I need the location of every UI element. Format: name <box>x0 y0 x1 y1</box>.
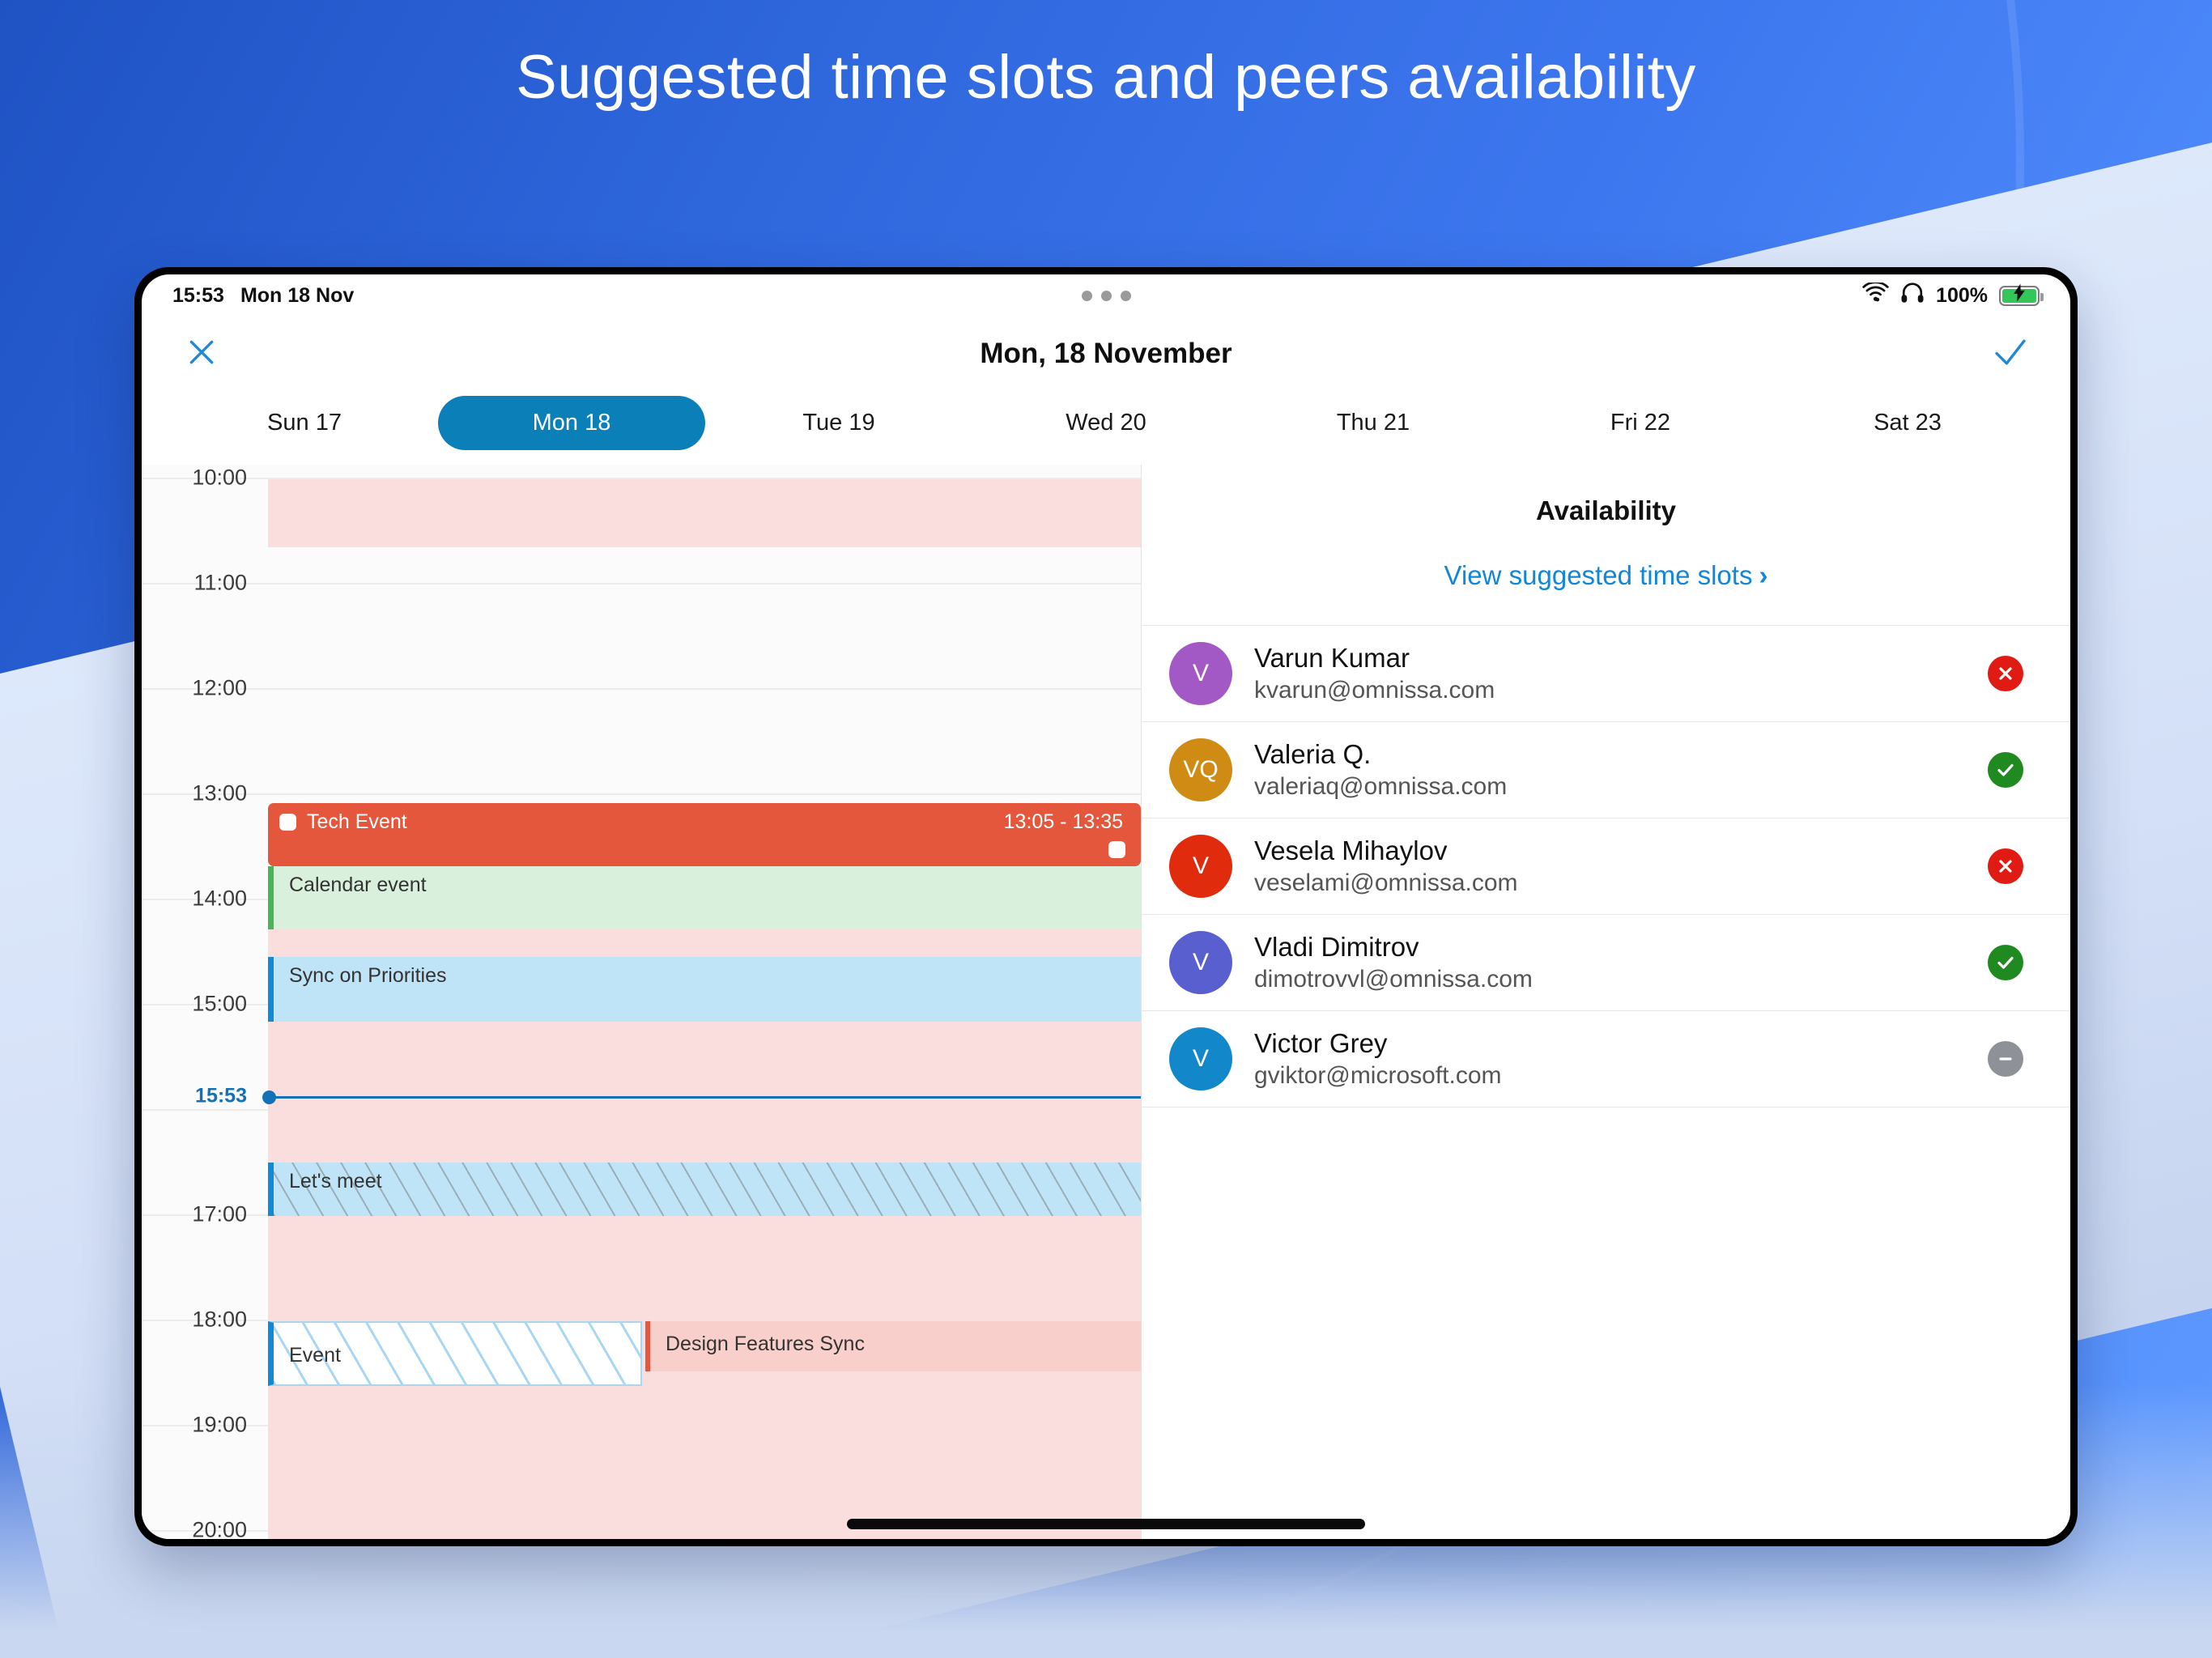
attendee-info: Valeria Q. valeriaq@omnissa.com <box>1254 739 1507 801</box>
event-calendar-event[interactable]: Calendar event <box>268 866 1141 929</box>
hour-label-11: 11:00 <box>142 571 257 596</box>
hour-label-19: 19:00 <box>142 1413 257 1438</box>
attendee-list: V Varun Kumar kvarun@omnissa.com VQ <box>1142 625 2070 1107</box>
attendee-info: Victor Grey gviktor@microsoft.com <box>1254 1028 1502 1090</box>
hour-label-10: 10:00 <box>142 466 257 491</box>
hour-label-12: 12:00 <box>142 676 257 701</box>
event-title: Tech Event <box>268 803 407 834</box>
event-tech-event[interactable]: Tech Event 13:05 - 13:35 <box>268 803 1141 866</box>
event-title-text: Event <box>274 1323 341 1367</box>
calendar-event-area: Tech Event 13:05 - 13:35 Calendar event … <box>268 465 1141 1539</box>
avatar-initials: V <box>1193 949 1209 976</box>
hour-label-14: 14:00 <box>142 886 257 912</box>
attendee-email: dimotrovvl@omnissa.com <box>1254 966 1533 993</box>
day-tab-mon-18[interactable]: Mon 18 <box>438 396 705 450</box>
current-time-line <box>268 1096 1141 1099</box>
minus-circle-icon <box>1988 1041 2023 1077</box>
avatar-initials: V <box>1193 852 1209 880</box>
attendee-name: Varun Kumar <box>1254 643 1495 674</box>
attendee-name: Valeria Q. <box>1254 739 1507 770</box>
avatar: V <box>1169 1027 1232 1090</box>
avatar-initials: V <box>1193 660 1209 687</box>
event-design-features-sync[interactable]: Design Features Sync <box>645 1321 1141 1371</box>
hour-label-20: 20:00 <box>142 1518 257 1540</box>
status-bar-right: 100% <box>1862 282 2040 309</box>
headphones-icon <box>1900 282 1925 309</box>
attendee-email: gviktor@microsoft.com <box>1254 1062 1502 1090</box>
event-title-text: Design Features Sync <box>650 1321 865 1356</box>
battery-charging-icon <box>1999 286 2040 306</box>
hour-label-18: 18:00 <box>142 1307 257 1333</box>
page-title: Suggested time slots and peers availabil… <box>0 42 2212 113</box>
event-status-dot-icon <box>279 814 296 831</box>
dot-3 <box>1121 291 1131 301</box>
attendee-email: veselami@omnissa.com <box>1254 869 1518 897</box>
day-tab-sat-23[interactable]: Sat 23 <box>1774 396 2041 450</box>
hour-label-17: 17:00 <box>142 1202 257 1227</box>
day-tab-fri-22[interactable]: Fri 22 <box>1507 396 1774 450</box>
tablet-device-frame: 15:53 Mon 18 Nov 100% <box>134 267 2078 1546</box>
dot-2 <box>1101 291 1112 301</box>
attendee-info: Vesela Mihaylov veselami@omnissa.com <box>1254 835 1518 897</box>
event-event[interactable]: Event <box>268 1321 642 1386</box>
attendee-name: Vesela Mihaylov <box>1254 835 1518 866</box>
event-title-text: Sync on Priorities <box>274 957 447 988</box>
done-button[interactable] <box>1988 331 2033 376</box>
avatar-initials: V <box>1193 1045 1209 1073</box>
day-tab-tue-19[interactable]: Tue 19 <box>705 396 972 450</box>
busy-band-morning <box>268 479 1141 547</box>
view-suggested-time-slots-link[interactable]: View suggested time slots› <box>1142 560 2070 591</box>
day-tab-thu-21[interactable]: Thu 21 <box>1240 396 1507 450</box>
event-title-text: Let's meet <box>274 1163 382 1193</box>
list-item[interactable]: VQ Valeria Q. valeriaq@omnissa.com <box>1142 721 2070 818</box>
wifi-icon <box>1862 283 1889 308</box>
battery-percent-label: 100% <box>1936 284 1988 308</box>
day-tab-wed-20[interactable]: Wed 20 <box>972 396 1240 450</box>
avatar: VQ <box>1169 738 1232 801</box>
attendee-name: Victor Grey <box>1254 1028 1502 1059</box>
calendar-inner: 10:00 11:00 12:00 13:00 14:00 15:00 17:0… <box>142 465 1141 1539</box>
check-circle-icon <box>1988 945 2023 980</box>
attendee-info: Varun Kumar kvarun@omnissa.com <box>1254 643 1495 704</box>
main-content: 10:00 11:00 12:00 13:00 14:00 15:00 17:0… <box>142 465 2070 1539</box>
event-title-text: Calendar event <box>274 866 427 897</box>
charging-bolt-icon <box>2014 284 2026 308</box>
attendee-email: kvarun@omnissa.com <box>1254 677 1495 704</box>
event-sync-on-priorities[interactable]: Sync on Priorities <box>268 957 1141 1022</box>
day-tab-sun-17[interactable]: Sun 17 <box>171 396 438 450</box>
avatar-initials: VQ <box>1183 756 1218 784</box>
event-resize-handle-icon[interactable] <box>1108 841 1125 858</box>
cross-circle-icon <box>1988 848 2023 884</box>
avatar: V <box>1169 931 1232 994</box>
current-time-label: 15:53 <box>142 1085 257 1108</box>
day-calendar-grid[interactable]: 10:00 11:00 12:00 13:00 14:00 15:00 17:0… <box>142 465 1142 1539</box>
list-item[interactable]: V Varun Kumar kvarun@omnissa.com <box>1142 625 2070 721</box>
multitasking-dots-handle[interactable] <box>142 274 2070 317</box>
chevron-right-icon: › <box>1759 560 1767 590</box>
close-icon <box>186 337 217 372</box>
header-title: Mon, 18 November <box>142 338 2070 370</box>
list-item[interactable]: V Victor Grey gviktor@microsoft.com <box>1142 1010 2070 1107</box>
ios-status-bar: 15:53 Mon 18 Nov 100% <box>142 274 2070 317</box>
dot-1 <box>1082 291 1092 301</box>
availability-panel: Availability View suggested time slots› … <box>1142 465 2070 1539</box>
app-header: Mon, 18 November <box>142 317 2070 391</box>
attendee-name: Vladi Dimitrov <box>1254 932 1533 963</box>
availability-title: Availability <box>1142 495 2070 526</box>
hour-label-13: 13:00 <box>142 781 257 806</box>
attendee-email: valeriaq@omnissa.com <box>1254 773 1507 801</box>
event-title-text: Tech Event <box>307 810 407 834</box>
list-item[interactable]: V Vladi Dimitrov dimotrovvl@omnissa.com <box>1142 914 2070 1010</box>
check-circle-icon <box>1988 752 2023 788</box>
cross-circle-icon <box>1988 656 2023 691</box>
day-selector-tabs: Sun 17 Mon 18 Tue 19 Wed 20 Thu 21 Fri 2… <box>142 391 2070 465</box>
event-time-range: 13:05 - 13:35 <box>1004 803 1141 834</box>
avatar: V <box>1169 835 1232 898</box>
avatar: V <box>1169 642 1232 705</box>
close-button[interactable] <box>179 331 224 376</box>
list-item[interactable]: V Vesela Mihaylov veselami@omnissa.com <box>1142 818 2070 914</box>
hour-label-15: 15:00 <box>142 992 257 1017</box>
link-label: View suggested time slots <box>1444 560 1753 590</box>
home-indicator[interactable] <box>847 1519 1365 1529</box>
attendee-info: Vladi Dimitrov dimotrovvl@omnissa.com <box>1254 932 1533 993</box>
checkmark-icon <box>1994 337 2027 372</box>
event-lets-meet[interactable]: Let's meet <box>268 1163 1141 1216</box>
tablet-screen: 15:53 Mon 18 Nov 100% <box>142 274 2070 1539</box>
